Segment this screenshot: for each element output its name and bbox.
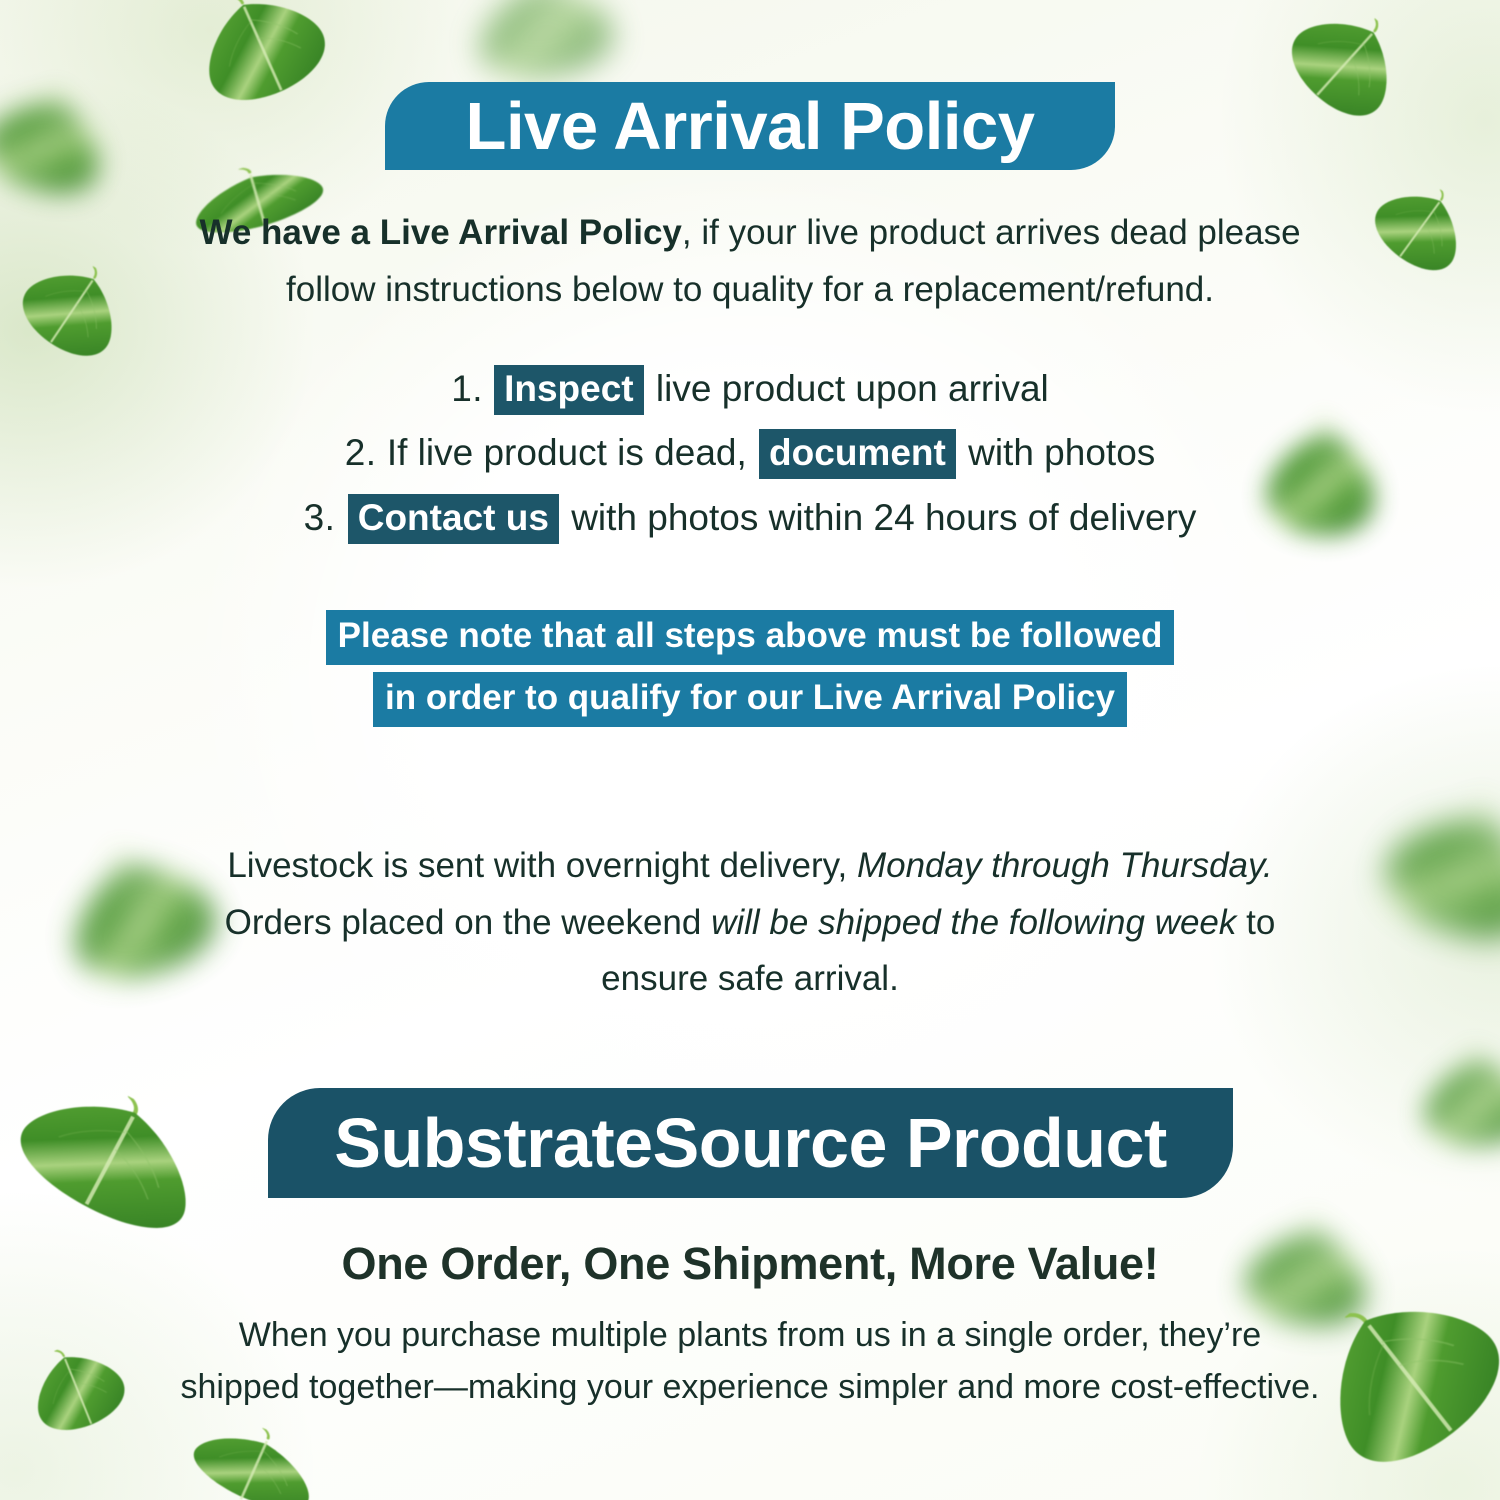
step-2-number: 2. [345,432,377,473]
value-heading: One Order, One Shipment, More Value! [0,1238,1500,1290]
step-item-2: 2. If live product is dead, document wit… [0,432,1500,474]
step-item-3: 3. Contact us with photos within 24 hour… [0,497,1500,539]
policy-card: Live Arrival Policy We have a Live Arriv… [0,0,1500,1500]
live-arrival-policy-banner-label: Live Arrival Policy [466,88,1035,165]
substratesource-product-banner-label: SubstrateSource Product [334,1103,1167,1183]
shipping-italic-days: Monday through Thursday. [857,846,1273,885]
shipping-part-2: Orders placed on the weekend [225,903,711,942]
step-2-text-before: If live product is dead, [387,432,747,473]
policy-note-line-2: in order to qualify for our Live Arrival… [0,672,1500,727]
step-2-text-after: with photos [968,432,1155,473]
step-3-highlight-contact-us: Contact us [348,494,559,544]
live-arrival-policy-banner: Live Arrival Policy [385,82,1115,170]
policy-note-line-2-label: in order to qualify for our Live Arrival… [373,672,1127,727]
intro-bold-lead: We have a Live Arrival Policy [199,213,681,252]
step-item-1: 1.Inspect live product upon arrival [0,368,1500,410]
step-1-number: 1. [451,368,483,409]
step-3-number: 3. [304,497,336,538]
shipping-part-1: Livestock is sent with overnight deliver… [227,846,857,885]
substratesource-product-banner: SubstrateSource Product [268,1088,1233,1198]
value-paragraph: When you purchase multiple plants from u… [0,1310,1500,1413]
step-1-highlight-inspect: Inspect [494,365,644,415]
intro-paragraph: We have a Live Arrival Policy, if your l… [0,205,1500,318]
step-1-text-after: live product upon arrival [656,368,1049,409]
policy-note-line-1-label: Please note that all steps above must be… [326,610,1175,665]
step-3-text-after: with photos within 24 hours of delivery [571,497,1196,538]
shipping-italic-weekend: will be shipped the following week [711,903,1236,942]
shipping-schedule-paragraph: Livestock is sent with overnight deliver… [0,838,1500,1008]
policy-note-line-1: Please note that all steps above must be… [0,610,1500,665]
step-2-highlight-document: document [759,429,956,479]
